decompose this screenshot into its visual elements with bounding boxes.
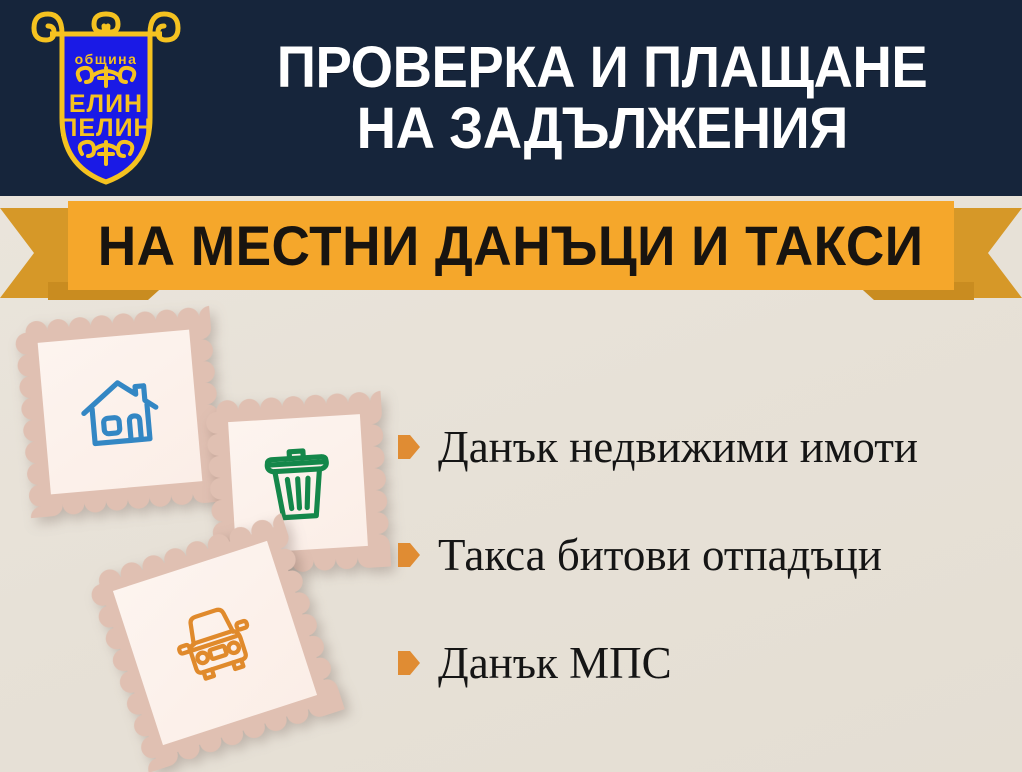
page-title: ПРОВЕРКА И ПЛАЩАНЕ НА ЗАДЪЛЖЕНИЯ	[196, 18, 1008, 178]
arrow-bullet-icon	[398, 435, 420, 459]
page-title-line-1: ПРОВЕРКА И ПЛАЩАНЕ	[277, 37, 927, 98]
stamp-house	[14, 306, 226, 518]
list-item: Данък недвижими имоти	[398, 418, 1010, 476]
crest-name-line2: ПЕЛИН	[59, 114, 152, 142]
list-item-label: Такса битови отпадъци	[438, 533, 882, 578]
header-bar: община ЕЛИН ПЕЛИН	[0, 0, 1022, 196]
municipality-crest-logo: община ЕЛИН ПЕЛИН	[22, 8, 190, 190]
page-title-line-2: НА ЗАДЪЛЖЕНИЯ	[356, 98, 847, 159]
list-item-label: Данък МПС	[438, 641, 672, 686]
crest-top-label: община	[75, 51, 138, 67]
ribbon-label: НА МЕСТНИ ДАНЪЦИ И ТАКСИ	[98, 213, 924, 278]
ribbon-banner: НА МЕСТНИ ДАНЪЦИ И ТАКСИ	[68, 201, 954, 290]
list-item-label: Данък недвижими имоти	[438, 425, 918, 470]
tax-type-list: Данък недвижими имоти Такса битови отпад…	[398, 418, 1010, 692]
poster-root: община ЕЛИН ПЕЛИН	[0, 0, 1022, 772]
list-item: Данък МПС	[398, 634, 1010, 692]
arrow-bullet-icon	[398, 651, 420, 675]
arrow-bullet-icon	[398, 543, 420, 567]
house-icon	[38, 330, 203, 495]
subtitle-ribbon: НА МЕСТНИ ДАНЪЦИ И ТАКСИ	[0, 196, 1022, 308]
list-item: Такса битови отпадъци	[398, 526, 1010, 584]
